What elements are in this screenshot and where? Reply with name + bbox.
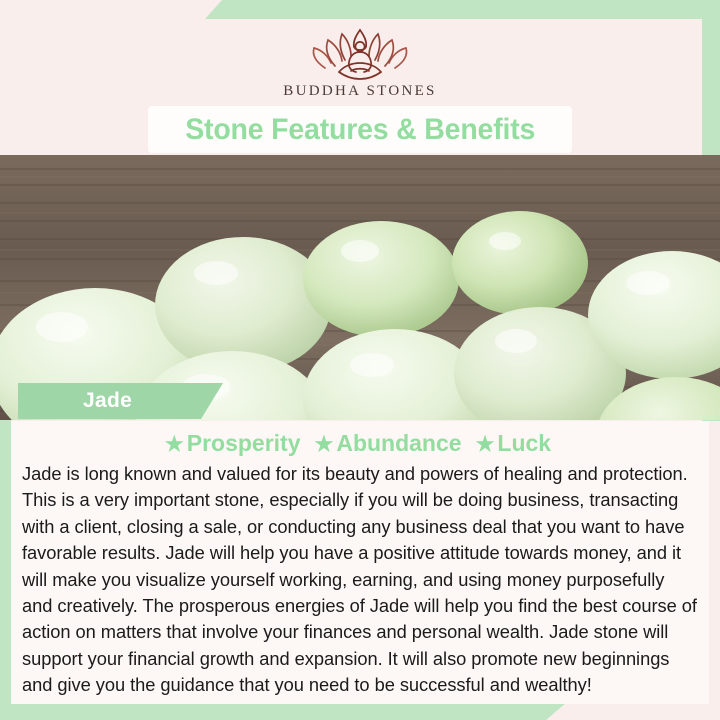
star-icon: ★ [476,433,495,456]
description-panel: ★Prosperity★Abundance★Luck Jade is long … [11,421,709,704]
brand-logo: BUDDHA STONES [0,22,720,104]
benefits-row: ★Prosperity★Abundance★Luck [20,430,700,457]
lotus-meditation-icon [306,22,414,80]
star-icon: ★ [165,433,184,456]
jade-stones-photo [0,155,720,420]
benefit-prosperity: Prosperity [187,430,301,456]
stone-name-tag: Jade [18,383,223,419]
brand-name: BUDDHA STONES [283,83,436,100]
benefit-abundance: Abundance [336,430,461,456]
photo-illustration [0,155,720,420]
page-title: Stone Features & Benefits [185,113,535,147]
top-green-band [205,0,720,19]
bottom-green-band [0,703,566,720]
title-banner: Stone Features & Benefits [148,106,572,153]
stone-features-infographic: BUDDHA STONES Stone Features & Benefits [0,0,720,720]
star-icon: ★ [315,433,334,456]
benefit-luck: Luck [497,430,551,456]
description-text: Jade is long known and valued for its be… [20,461,700,699]
stone-name-label: Jade [83,389,132,413]
left-green-band-text [0,419,11,704]
